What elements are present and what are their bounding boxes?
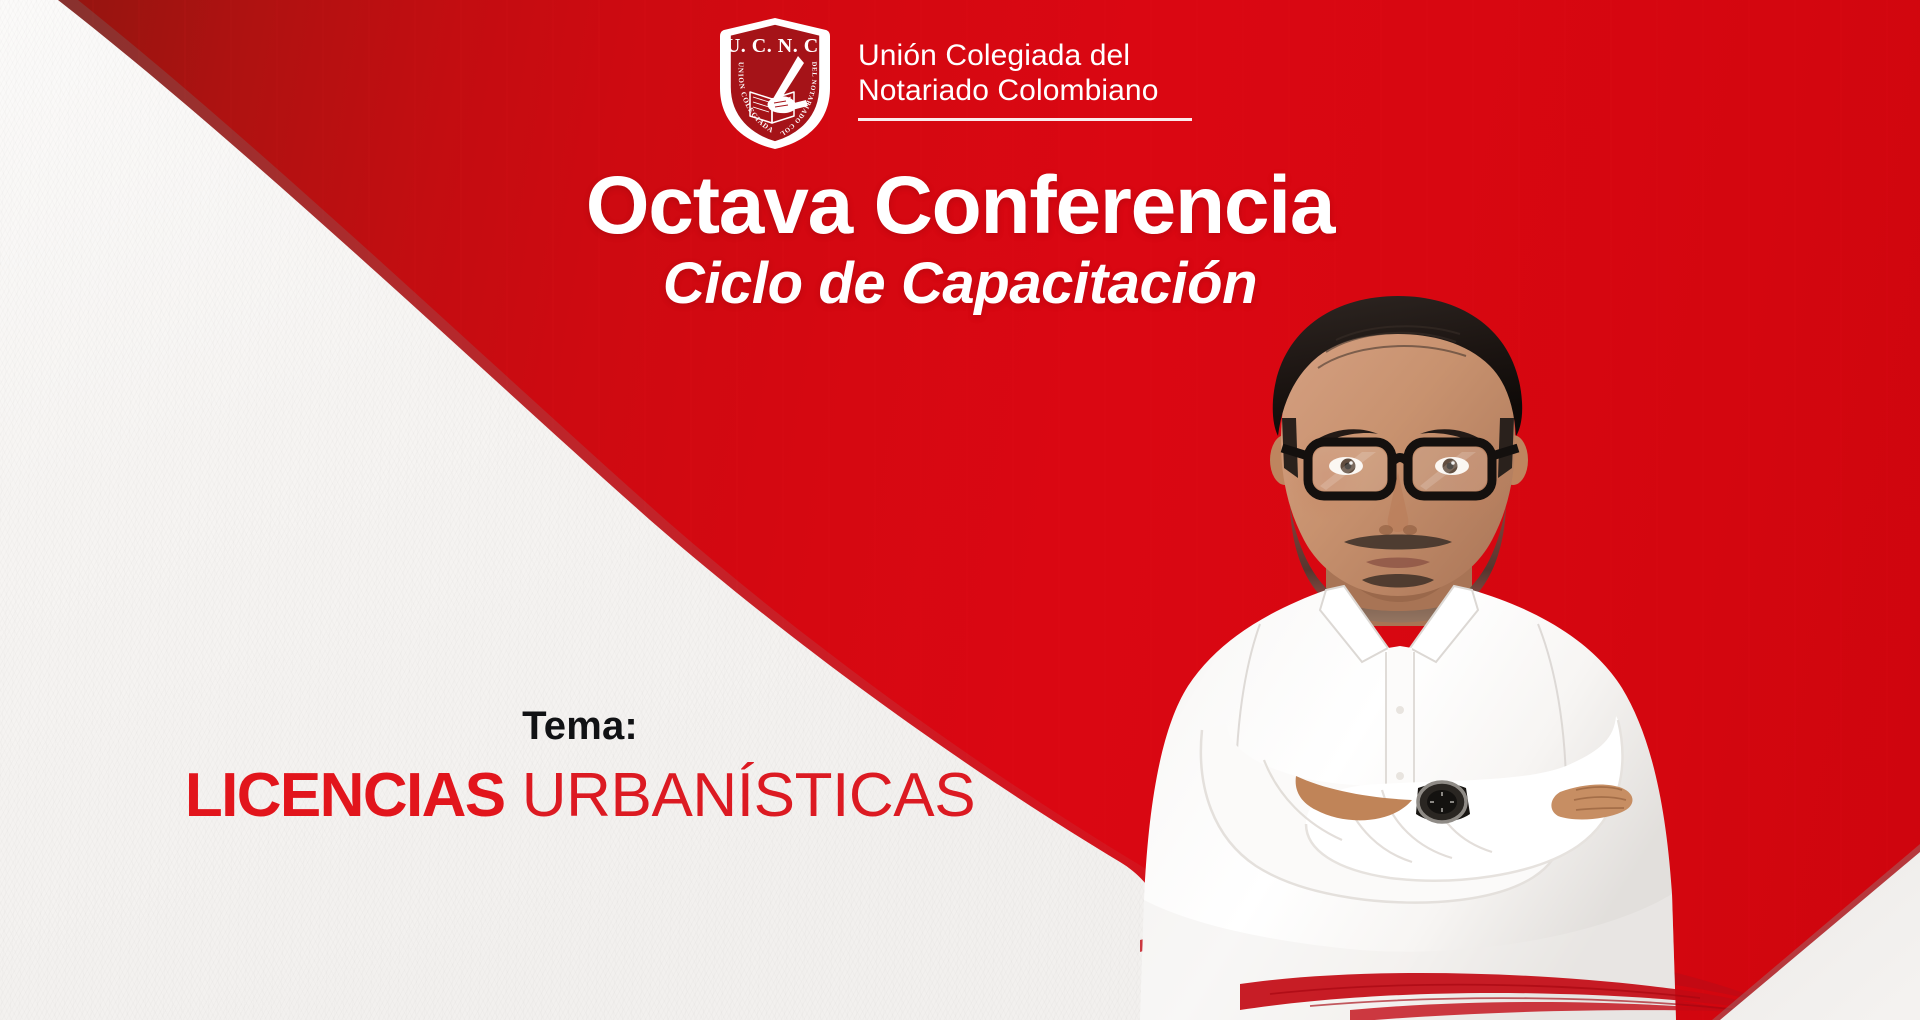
logo-underline-rule <box>858 118 1192 121</box>
conference-subtitle: Ciclo de Capacitación <box>0 255 1920 313</box>
svg-text:U. C. N. C.: U. C. N. C. <box>726 35 824 57</box>
topic-emphasis: LICENCIAS <box>185 761 505 830</box>
banner-canvas: U. C. N. C. UNION COLEGIADA DEL NOTARIAD… <box>0 0 1920 1020</box>
ucnc-crest-icon: U. C. N. C. UNION COLEGIADA DEL NOTARIAD… <box>712 16 838 150</box>
background-band-texture <box>0 0 1920 1020</box>
topic-label: Tema: <box>0 704 1160 749</box>
org-name-line-1: Unión Colegiada del <box>858 38 1192 73</box>
topic-rest: URBANÍSTICAS <box>522 761 975 830</box>
conference-title: Octava Conferencia <box>0 165 1920 247</box>
org-name-line-2: Notariado Colombiano <box>858 73 1192 108</box>
organization-logo: U. C. N. C. UNION COLEGIADA DEL NOTARIAD… <box>712 16 1192 150</box>
topic-title: LICENCIAS URBANÍSTICAS <box>0 765 1160 827</box>
organization-name: Unión Colegiada del Notariado Colombiano <box>858 16 1192 121</box>
